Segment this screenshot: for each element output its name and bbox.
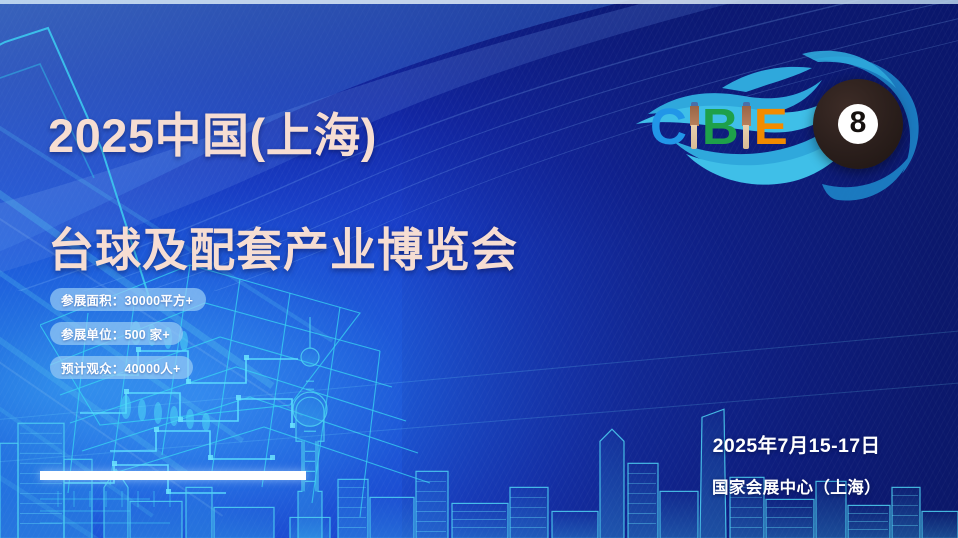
logo-cue-stick-icon [742, 102, 751, 149]
logo-letter-c: C [650, 104, 687, 150]
poster-headline: 2025中国(上海) [48, 97, 377, 166]
stat-badge-visitors: 预计观众：40000人+ [50, 356, 193, 379]
logo-cue-stick-icon [690, 102, 699, 149]
logo-letter-e: E [754, 104, 788, 150]
stat-badge-exhibitors: 参展单位：500 家+ [50, 322, 183, 345]
stats-list: 参展面积：30000平方+ 参展单位：500 家+ 预计观众：40000人+ [50, 288, 206, 390]
top-edge-highlight [0, 0, 958, 4]
poster-subheadline: 台球及配套产业博览会 [48, 214, 518, 280]
cibie-logo: C B E 8 [626, 44, 926, 204]
venue-info: 2025年7月15-17日 国家会展中心（上海） [712, 429, 881, 498]
stat-badge-exhibition-area: 参展面积：30000平方+ [50, 288, 206, 311]
exhibition-poster: 2025中国(上海) 台球及配套产业博览会 参展面积：30000平方+ 参展单位… [0, 0, 958, 538]
decorative-white-bar [40, 471, 306, 480]
eight-ball-icon: 8 [813, 79, 903, 169]
stat-row: 参展面积：30000平方+ [50, 288, 206, 322]
logo-letter-b: B [702, 104, 739, 150]
stat-row: 参展单位：500 家+ [50, 322, 206, 356]
event-date: 2025年7月15-17日 [712, 429, 881, 458]
stat-row: 预计观众：40000人+ [50, 356, 206, 390]
logo-wordmark: C B E [650, 102, 788, 150]
event-venue: 国家会展中心（上海） [712, 474, 881, 498]
eight-ball-number: 8 [838, 104, 878, 144]
